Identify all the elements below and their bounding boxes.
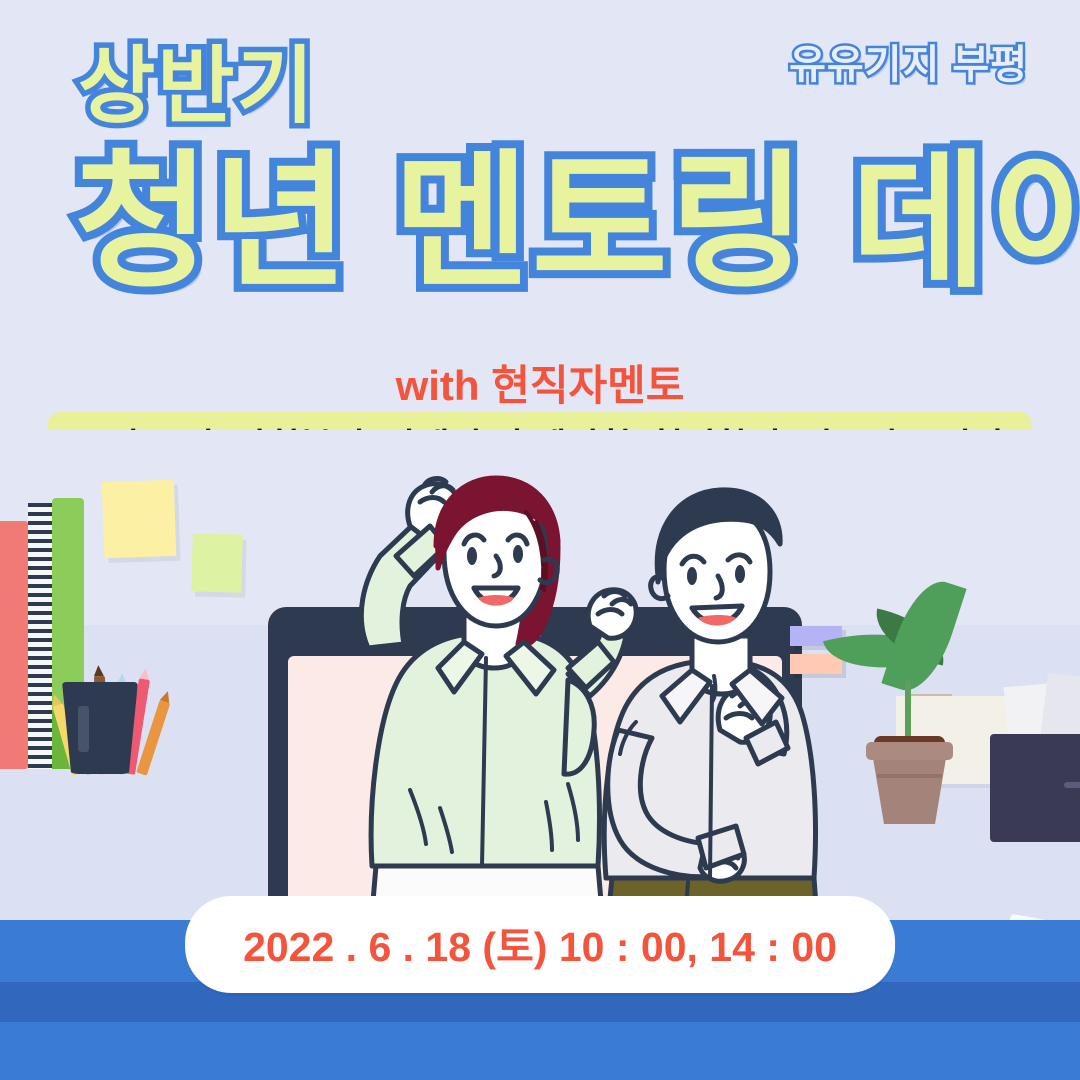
schedule-badge: 2022 . 6 . 18 (토) 10 : 00, 14 : 00 (185, 896, 895, 993)
pencil-cup (62, 682, 138, 774)
sticky-note-yellow (102, 480, 177, 558)
spiral-notebook (28, 503, 54, 769)
tray-box (990, 734, 1080, 842)
title-first-half: 상반기 (78, 44, 316, 128)
people-illustration (268, 430, 828, 960)
page-title: 청년 멘토링 데이 (74, 148, 1014, 299)
pencil-cup-shine (78, 706, 89, 752)
poster-root: 유유기지 부평 상반기 청년 멘토링 데이 with 현직자멘토 (공사/공단,… (0, 0, 1080, 1080)
book-red (0, 521, 28, 769)
man-smiling (604, 490, 820, 960)
schedule-text: 2022 . 6 . 18 (토) 10 : 00, 14 : 00 (243, 924, 837, 970)
subtitle-with-mentor: with 현직자멘토 (0, 352, 1080, 413)
woman-cheering (361, 478, 636, 960)
sticky-note-green (191, 533, 243, 592)
tray-slot (1064, 782, 1080, 788)
brand-label: 유유기지 부평 (789, 32, 1028, 90)
